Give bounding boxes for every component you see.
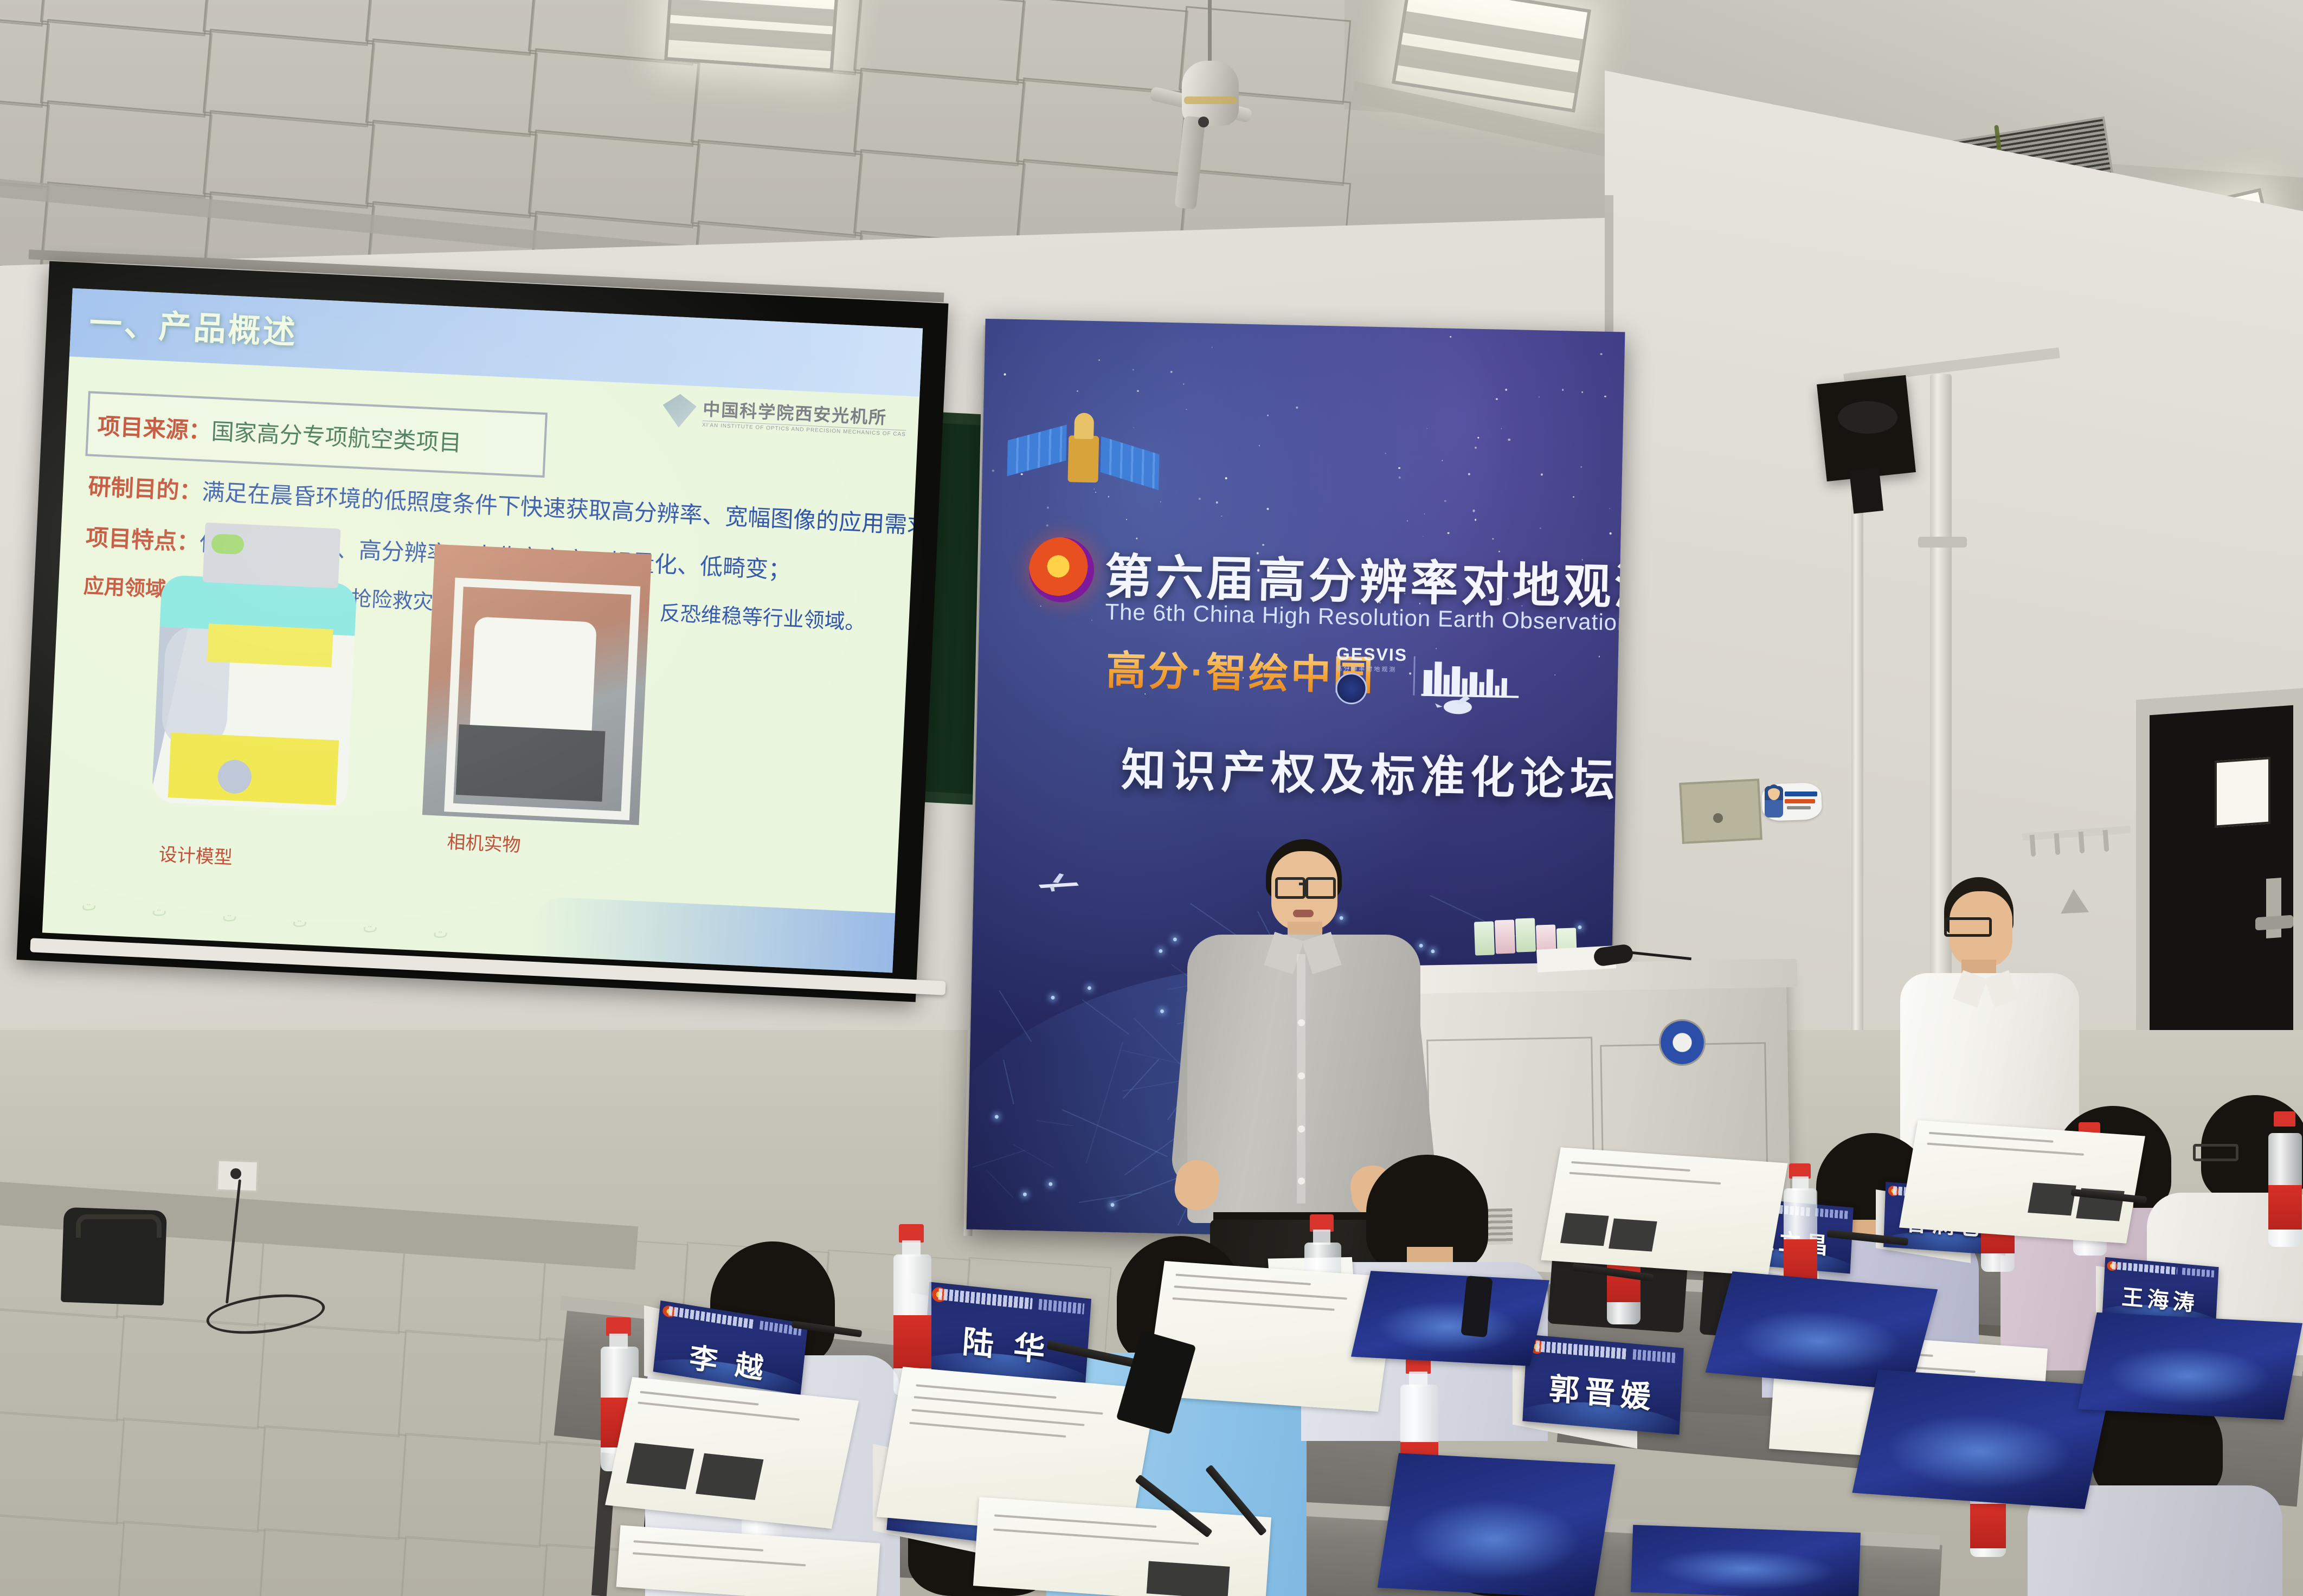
slide-caption-right: 相机实物 bbox=[447, 827, 522, 857]
backdrop-star bbox=[1003, 374, 1006, 376]
fan-trim-ring bbox=[1184, 96, 1237, 104]
camera-photo-image bbox=[422, 544, 652, 825]
satellite-illustration bbox=[1003, 401, 1162, 512]
name-card-6-right-logo bbox=[2182, 1267, 2214, 1278]
floor-tile bbox=[116, 1418, 266, 1533]
backdrop-star bbox=[1296, 407, 1298, 409]
backdrop-star bbox=[1216, 501, 1218, 504]
milk-carton-3 bbox=[1515, 918, 1536, 952]
sticker-text-line-1 bbox=[1785, 791, 1817, 796]
backdrop-star bbox=[1600, 353, 1603, 355]
aircraft-icon-1 bbox=[1431, 691, 1481, 719]
backdrop-star bbox=[1448, 532, 1449, 534]
model-yellow-panel-bottom bbox=[168, 732, 339, 805]
floor-tile bbox=[0, 1307, 125, 1422]
backdrop-star bbox=[1137, 390, 1139, 392]
backdrop-star bbox=[1505, 389, 1507, 391]
backdrop-star bbox=[1501, 428, 1502, 429]
speaker-cone bbox=[1838, 401, 1897, 434]
model-top-module bbox=[203, 523, 341, 589]
backdrop-star bbox=[1426, 428, 1427, 429]
floor-tile bbox=[257, 1322, 407, 1437]
floor-tile bbox=[0, 1410, 125, 1525]
speaker-box-handle bbox=[76, 1214, 162, 1238]
floor-tile bbox=[116, 1521, 266, 1596]
design-model-image bbox=[134, 514, 376, 828]
slide-title: 一、产品概述 bbox=[88, 297, 299, 353]
sticker-text-line-3 bbox=[1787, 806, 1811, 809]
ceiling-light-1 bbox=[664, 0, 839, 72]
backdrop-star bbox=[1444, 500, 1446, 502]
name-card-3-right-logo bbox=[1633, 1349, 1677, 1363]
presenter-button-2 bbox=[1298, 1072, 1305, 1079]
slide-source-box: 项目来源：国家高分专项航空类项目 bbox=[85, 391, 548, 478]
backdrop-star bbox=[1450, 336, 1451, 338]
presenter-mouth bbox=[1293, 910, 1314, 917]
backdrop-network-node bbox=[1419, 943, 1423, 947]
sponsor-circle-logo bbox=[1335, 673, 1367, 705]
door-window bbox=[2215, 757, 2270, 827]
backdrop-star bbox=[1468, 473, 1470, 475]
door-handle[interactable] bbox=[2255, 915, 2293, 931]
backdrop-network-line bbox=[999, 990, 1032, 1042]
floor-tile bbox=[257, 1425, 407, 1540]
backdrop-star bbox=[1423, 536, 1424, 537]
slide-source-value: 国家高分专项航空类项目 bbox=[211, 419, 462, 456]
backdrop-star bbox=[1186, 409, 1187, 410]
milk-carton-2 bbox=[1495, 919, 1515, 954]
conference-booklet-6[interactable] bbox=[1631, 1525, 1861, 1596]
backdrop-star bbox=[1554, 674, 1556, 676]
backdrop-star bbox=[1573, 496, 1574, 498]
backdrop-star bbox=[1258, 445, 1260, 447]
institute-logo: 中国科学院西安光机所 XI'AN INSTITUTE OF OPTICS AND… bbox=[662, 393, 908, 438]
fan-hub bbox=[1198, 117, 1209, 127]
satellite-dish bbox=[1074, 413, 1094, 439]
sticker-text-line-2 bbox=[1785, 799, 1815, 803]
attendee-7-glasses bbox=[2193, 1144, 2238, 1161]
name-card-4-right-logo bbox=[1815, 1208, 1849, 1219]
backdrop-star bbox=[992, 469, 994, 472]
floor-tile bbox=[398, 1330, 548, 1445]
observer-glasses bbox=[1944, 917, 1992, 937]
backdrop-star bbox=[1183, 384, 1184, 385]
conference-booklet-2[interactable] bbox=[1852, 1369, 2111, 1509]
name-card-3: 郭晋媛 bbox=[1522, 1334, 1683, 1434]
floor-tile bbox=[0, 1513, 125, 1596]
fan-rod bbox=[1208, 0, 1212, 65]
panel-lock[interactable] bbox=[1713, 813, 1723, 823]
pipe-clamp bbox=[1918, 537, 1967, 548]
name-card-1-header bbox=[938, 1288, 1033, 1310]
forum-title: 知识产权及标准化论坛 bbox=[1121, 733, 1620, 808]
backdrop-star bbox=[1225, 477, 1227, 479]
backdrop-star bbox=[1609, 508, 1610, 509]
backdrop-star bbox=[1126, 519, 1127, 520]
outlet-plug bbox=[230, 1168, 241, 1179]
slide-source-label: 项目来源： bbox=[97, 413, 212, 444]
backdrop-network-node bbox=[1173, 937, 1177, 941]
backdrop-star bbox=[1399, 467, 1400, 469]
backdrop-star bbox=[1581, 391, 1583, 393]
backdrop-star bbox=[1604, 396, 1606, 397]
backdrop-star bbox=[1540, 527, 1541, 529]
backdrop-star bbox=[1040, 606, 1041, 607]
backdrop-network-node bbox=[1023, 1193, 1027, 1196]
backdrop-star bbox=[1562, 389, 1564, 391]
milk-carton-1 bbox=[1474, 921, 1495, 955]
screenshot-root: 一、产品概述 中国科学院西安光机所 XI'AN INSTITUTE OF OPT… bbox=[0, 0, 2303, 1596]
conference-booklet-3[interactable] bbox=[1351, 1271, 1549, 1366]
projected-slide: 一、产品概述 中国科学院西安光机所 XI'AN INSTITUTE OF OPT… bbox=[42, 288, 923, 973]
name-card-6-header bbox=[2112, 1262, 2178, 1275]
backdrop-star bbox=[1610, 532, 1612, 535]
backdrop-star bbox=[1478, 437, 1479, 439]
photo-base-shadow bbox=[456, 724, 606, 802]
floor-tile bbox=[398, 1433, 548, 1548]
conference-emblem bbox=[1028, 537, 1095, 603]
backdrop-star bbox=[1133, 369, 1134, 371]
presenter-button-1 bbox=[1298, 1019, 1305, 1026]
slide-caption-left: 设计模型 bbox=[158, 839, 233, 869]
floor-tile bbox=[398, 1536, 548, 1596]
presenter-glasses-left-lens bbox=[1275, 877, 1305, 899]
slide-row-0-key: 研制目的： bbox=[88, 473, 203, 504]
backdrop-network-node bbox=[994, 1115, 998, 1118]
backdrop-star bbox=[1221, 516, 1222, 517]
conference-booklet-4[interactable] bbox=[2078, 1312, 2302, 1420]
presenter-button-3 bbox=[1298, 1125, 1305, 1132]
backdrop-star bbox=[1442, 460, 1443, 461]
backdrop-star bbox=[1199, 498, 1201, 500]
backdrop-star bbox=[1599, 656, 1600, 657]
handout-6[interactable] bbox=[1899, 1120, 2145, 1243]
electrical-panel[interactable] bbox=[1679, 778, 1762, 844]
name-card-1-right-logo bbox=[1038, 1299, 1084, 1315]
backdrop-star bbox=[1211, 347, 1212, 348]
backdrop-star bbox=[1475, 446, 1477, 448]
logo-divider bbox=[1413, 656, 1416, 695]
backdrop-star bbox=[1091, 620, 1092, 621]
backdrop-star bbox=[1496, 398, 1497, 400]
backdrop-star bbox=[1472, 510, 1475, 512]
satellite-body bbox=[1067, 435, 1099, 482]
backdrop-network-node bbox=[1051, 996, 1054, 1000]
sponsor-logo-text: GESVIS bbox=[1336, 644, 1408, 666]
backdrop-star bbox=[1580, 466, 1582, 468]
backdrop-star bbox=[1046, 524, 1048, 526]
backdrop-star bbox=[1541, 474, 1543, 476]
satellite-panel-right bbox=[1101, 436, 1160, 490]
backdrop-star bbox=[1099, 359, 1100, 361]
backdrop-network-node bbox=[1087, 986, 1091, 990]
speaker-bracket bbox=[1849, 467, 1883, 513]
backdrop-star bbox=[1267, 415, 1269, 416]
sponsor-logo-subtext: 高分辨率对地观测 bbox=[1336, 664, 1407, 674]
backdrop-star bbox=[1492, 538, 1494, 540]
handout-1[interactable] bbox=[605, 1377, 859, 1529]
presenter-glasses-right-lens bbox=[1305, 877, 1336, 899]
backdrop-network-node bbox=[1159, 949, 1163, 953]
backdrop-star bbox=[1385, 453, 1386, 454]
backdrop-star bbox=[1508, 439, 1510, 441]
conference-booklet-5[interactable] bbox=[1378, 1453, 1616, 1596]
institute-logo-mark bbox=[662, 393, 697, 428]
aircraft-icon-2 bbox=[1033, 867, 1082, 896]
warning-triangle-sign bbox=[2060, 889, 2089, 914]
backdrop-star bbox=[1475, 519, 1477, 521]
backdrop-star bbox=[1266, 508, 1269, 510]
model-green-detail bbox=[211, 533, 245, 555]
backdrop-network-node bbox=[1431, 949, 1435, 953]
name-card-3-header bbox=[1535, 1341, 1627, 1360]
backdrop-network-node bbox=[1578, 925, 1581, 929]
sticker-worker-head bbox=[1768, 784, 1780, 800]
backdrop-network-node bbox=[1339, 916, 1343, 920]
floor-tile bbox=[257, 1528, 407, 1596]
backdrop-star bbox=[1407, 520, 1408, 522]
satellite-panel-left bbox=[1007, 425, 1067, 477]
model-yellow-panel-top bbox=[207, 623, 333, 667]
backdrop-star bbox=[1424, 513, 1425, 514]
backdrop-star bbox=[1539, 396, 1540, 398]
presenter-button-4 bbox=[1298, 1177, 1305, 1185]
backdrop-star bbox=[1399, 477, 1401, 479]
handout-5[interactable] bbox=[1541, 1147, 1788, 1276]
sponsor-logo-group: GESVIS 高分辨率对地观测 bbox=[1335, 644, 1520, 708]
backdrop-star bbox=[1170, 371, 1173, 373]
presenter-glasses-bridge bbox=[1299, 883, 1308, 885]
backdrop-star bbox=[1077, 390, 1078, 392]
